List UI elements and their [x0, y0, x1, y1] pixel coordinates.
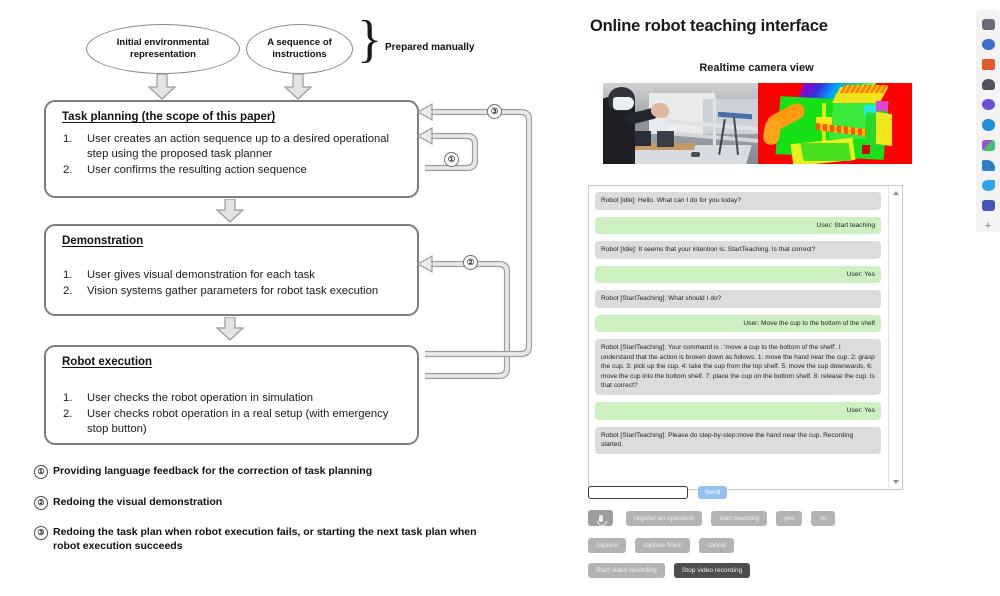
microphone-icon [599, 515, 603, 522]
scroll-down-arrow-icon[interactable] [893, 480, 899, 484]
stage-item-text: User checks the robot operation in simul… [87, 392, 313, 404]
chat-message-list: Robot [idle]: Hello. What can I do for y… [589, 186, 888, 489]
action-button-row-1: register an operation start teaching yes… [588, 510, 844, 526]
paper-plane-icon[interactable] [982, 160, 995, 171]
legend-marker-label: ① [37, 468, 44, 476]
loop-marker-label: ① [448, 155, 456, 164]
input-node-label: A sequence of instructions [247, 37, 352, 61]
stage-item: 2.User confirms the resulting action seq… [60, 163, 405, 178]
teams-icon[interactable] [982, 200, 995, 211]
message-composer: Send [588, 486, 727, 499]
stage-robot-execution: Robot execution 1.User checks the robot … [44, 345, 419, 445]
stage-demonstration: Demonstration 1.User gives visual demons… [44, 224, 419, 316]
send-button[interactable]: Send [698, 486, 727, 499]
camera-view-container [603, 83, 912, 164]
microphone-button[interactable] [588, 510, 613, 526]
brace-symbol: } [357, 14, 382, 66]
list-number: 1. [63, 391, 72, 406]
chat-message-robot: Robot [Idle]: It seems that your intenti… [595, 241, 881, 259]
input-node-initial-env: Initial environmental representation [86, 24, 240, 74]
legend-item: ③ Redoing the task plan when robot execu… [34, 525, 484, 553]
chat-scrollbar[interactable] [888, 186, 902, 489]
input-node-instruction-sequence: A sequence of instructions [246, 24, 353, 74]
loop-marker-2: ② [463, 255, 478, 270]
chat-message-robot: Robot [StartTeaching]: Your command is :… [595, 339, 881, 395]
cancel-button[interactable]: cancel [699, 538, 734, 553]
no-button[interactable]: no [811, 511, 834, 526]
stop-video-recording-button[interactable]: Stop video recording [674, 563, 750, 578]
stage-item-text: Vision systems gather parameters for rob… [87, 285, 378, 297]
stage-item-text: User checks robot operation in a real se… [87, 408, 388, 435]
stage-title: Task planning (the scope of this paper) [62, 111, 275, 123]
action-button-row-3: Start video recording Stop video recordi… [588, 563, 759, 578]
tag-icon[interactable] [982, 39, 995, 50]
feedback-loop-arrows: .pipe{fill:none;stroke:#9d9d9d;stroke-wi… [415, 104, 545, 434]
legend-text: Redoing the task plan when robot executi… [53, 525, 484, 553]
chat-message-user: User: Yes [595, 402, 881, 420]
list-number: 1. [63, 268, 72, 283]
list-number: 2. [63, 163, 72, 178]
page-title: Online robot teaching interface [590, 17, 828, 36]
input-node-label: Initial environmental representation [87, 37, 239, 61]
start-video-recording-button[interactable]: Start video recording [588, 563, 665, 578]
stage-item: 1.User creates an action sequence up to … [60, 132, 405, 162]
legend-marker: ② [34, 496, 48, 510]
legend-item: ① Providing language feedback for the co… [34, 464, 504, 479]
chat-message-robot: Robot [StartTeaching]: Please do step-by… [595, 427, 881, 454]
stage-item-text: User confirms the resulting action seque… [87, 164, 307, 176]
list-number: 2. [63, 284, 72, 299]
add-icon[interactable]: + [982, 220, 995, 232]
camera-section-title: Realtime camera view [575, 62, 938, 74]
arrow-down-to-demonstration [216, 199, 244, 223]
legend-marker-label: ③ [37, 529, 44, 537]
loop-marker-label: ② [467, 258, 475, 267]
stage-title: Demonstration [62, 235, 143, 247]
register-operation-button[interactable]: register an operation [626, 511, 702, 526]
chat-log-panel[interactable]: Robot [idle]: Hello. What can I do for y… [588, 185, 903, 490]
camera-icon[interactable] [982, 99, 995, 110]
depth-segmentation-view [758, 83, 912, 164]
browser-extension-rail: + [976, 10, 1000, 232]
search-icon[interactable] [982, 19, 995, 30]
stage-item: 1.User checks the robot operation in sim… [60, 391, 405, 406]
legend-marker-label: ② [37, 499, 44, 507]
chat-message-user: User: Yes [595, 266, 881, 284]
arrow-down-from-initial-env [148, 74, 176, 100]
arrow-down-to-robot-execution [216, 317, 244, 341]
yes-button[interactable]: yes [776, 511, 802, 526]
stage-item-list: 1.User gives visual demonstration for ea… [60, 268, 405, 300]
capture-finish-button[interactable]: capture finish [635, 538, 690, 553]
stage-item-list: 1.User creates an action sequence up to … [60, 132, 405, 179]
stage-item: 1.User gives visual demonstration for ea… [60, 268, 405, 283]
rgb-camera-view [603, 83, 758, 164]
chat-message-robot: Robot [StartTeaching]: What should I do? [595, 290, 881, 308]
action-button-row-2: capture capture finish cancel [588, 538, 743, 553]
list-number: 1. [63, 132, 72, 147]
capture-button[interactable]: capture [588, 538, 626, 553]
stage-task-planning: Task planning (the scope of this paper) … [44, 100, 419, 198]
legend-text: Redoing the visual demonstration [53, 495, 222, 509]
chat-message-user: User: Start teaching [595, 217, 881, 235]
stage-item-list: 1.User checks the robot operation in sim… [60, 391, 405, 438]
stage-title: Robot execution [62, 356, 152, 368]
contact-add-icon[interactable] [982, 79, 995, 90]
loop-marker-3: ③ [487, 104, 502, 119]
twitter-icon[interactable] [982, 180, 995, 191]
briefcase-icon[interactable] [982, 59, 995, 70]
legend-item: ② Redoing the visual demonstration [34, 495, 504, 510]
palette-icon[interactable] [982, 140, 995, 151]
loop-marker-1: ① [444, 152, 459, 167]
stage-item-text: User creates an action sequence up to a … [87, 133, 389, 160]
arrow-down-from-instruction-sequence [284, 74, 312, 100]
chat-message-user: User: Move the cup to the bottom of the … [595, 315, 881, 333]
magnifier-blue-icon[interactable] [982, 119, 995, 130]
process-flow-diagram: Initial environmental representation A s… [0, 0, 560, 596]
stage-item-text: User gives visual demonstration for each… [87, 269, 315, 281]
message-input[interactable] [588, 486, 688, 499]
legend-marker: ① [34, 465, 48, 479]
legend-text: Providing language feedback for the corr… [53, 464, 372, 478]
start-teaching-button[interactable]: start teaching [711, 511, 767, 526]
legend-marker: ③ [34, 526, 48, 540]
online-robot-teaching-interface: Online robot teaching interface Realtime… [575, 0, 1000, 596]
stage-item: 2.User checks robot operation in a real … [60, 407, 405, 437]
list-number: 2. [63, 407, 72, 422]
stage-item: 2.Vision systems gather parameters for r… [60, 284, 405, 299]
chat-message-robot: Robot [idle]: Hello. What can I do for y… [595, 192, 881, 210]
loop-marker-label: ③ [491, 107, 499, 116]
prepared-manually-label: Prepared manually [385, 42, 474, 53]
scroll-up-arrow-icon[interactable] [893, 191, 899, 195]
